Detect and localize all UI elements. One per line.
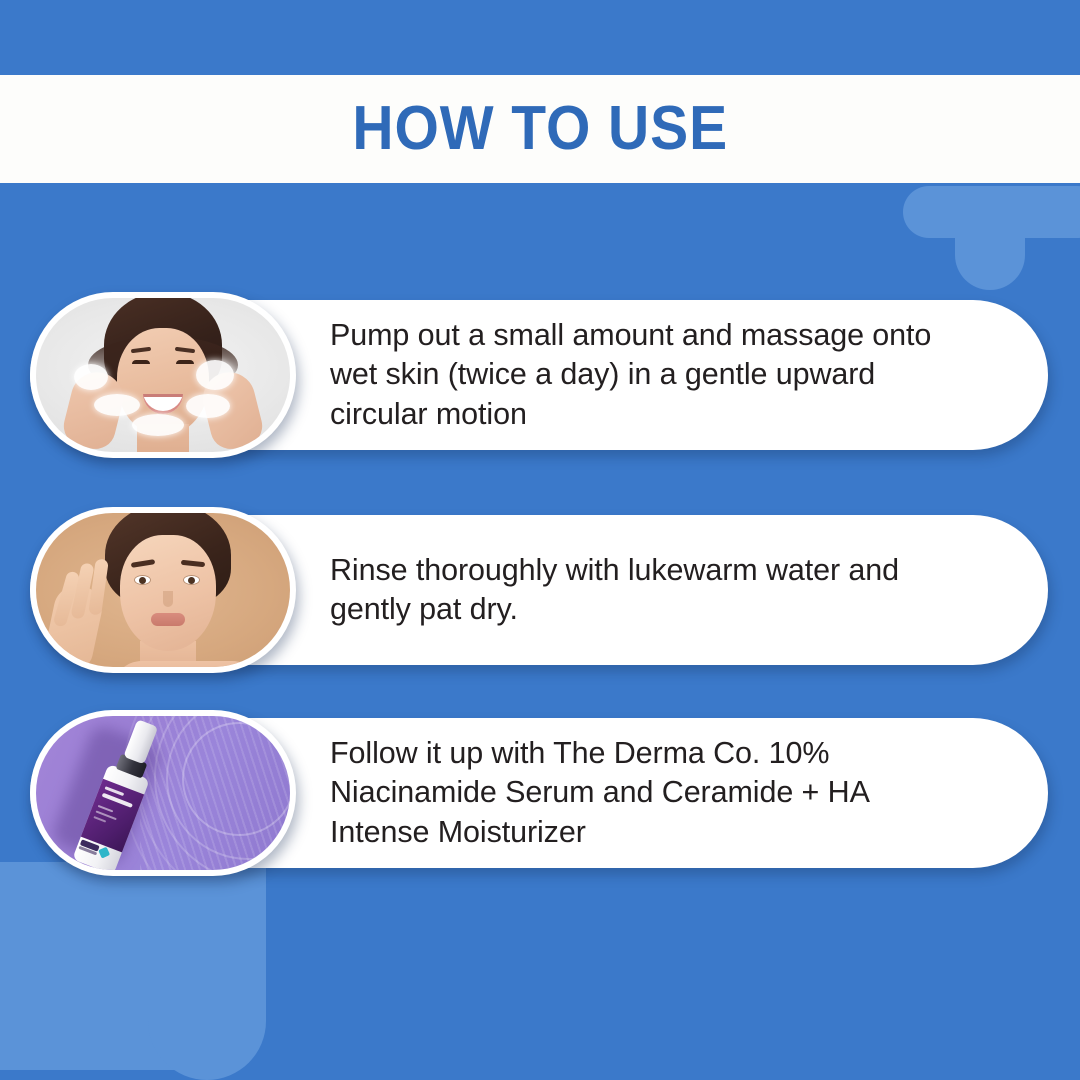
poster-canvas: HOW TO USE Pump out a small amount and m…	[0, 0, 1080, 1080]
step-3-line-3: Intense Moisturizer	[330, 813, 1030, 852]
plus-shape-bottom-left-stem	[148, 862, 266, 1080]
step-3-line-2: Niacinamide Serum and Ceramide + HA	[330, 773, 1030, 812]
page-title: HOW TO USE	[352, 98, 728, 160]
step-2-line-2: gently pat dry.	[330, 590, 1030, 629]
step-row-3: Follow it up with The Derma Co. 10% Niac…	[0, 710, 1080, 882]
step-row-1: Pump out a small amount and massage onto…	[0, 292, 1080, 464]
step-2-line-1: Rinse thoroughly with lukewarm water and	[330, 551, 1030, 590]
plus-shape-top-right-stem	[955, 186, 1025, 290]
header-banner: HOW TO USE	[0, 75, 1080, 183]
step-row-2: Rinse thoroughly with lukewarm water and…	[0, 507, 1080, 679]
step-3-line-1: Follow it up with The Derma Co. 10%	[330, 734, 1030, 773]
woman-touching-face-photo	[30, 507, 296, 673]
niacinamide-serum-bottle-photo	[30, 710, 296, 876]
step-1-line-3: circular motion	[330, 395, 1030, 434]
step-text-3: Follow it up with The Derma Co. 10% Niac…	[330, 718, 1030, 868]
step-1-line-1: Pump out a small amount and massage onto	[330, 316, 1030, 355]
step-text-1: Pump out a small amount and massage onto…	[330, 300, 1030, 450]
step-1-line-2: wet skin (twice a day) in a gentle upwar…	[330, 355, 1030, 394]
woman-washing-face-photo	[30, 292, 296, 458]
step-text-2: Rinse thoroughly with lukewarm water and…	[330, 515, 1030, 665]
